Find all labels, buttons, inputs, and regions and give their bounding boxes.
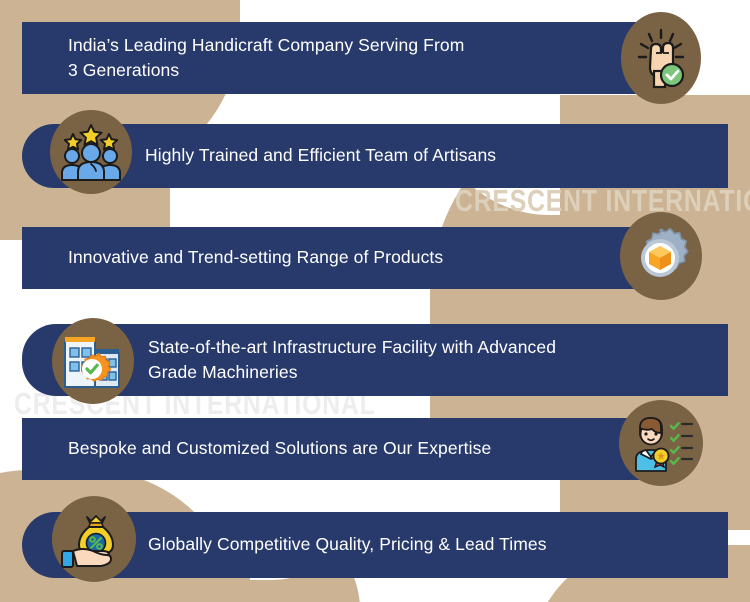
feature-bar-5[interactable]: Bespoke and Customized Solutions are Our… — [22, 418, 670, 480]
feature-bar-1[interactable]: India’s Leading Handicraft Company Servi… — [22, 22, 670, 94]
watermark-right: CRESCENT INTERNATIONAL — [455, 183, 750, 219]
infographic-canvas: CRESCENT INTERNATIONAL CRESCENT INTERNAT… — [0, 0, 750, 602]
factory-gear-check-icon — [52, 318, 134, 404]
feature-text-4: State-of-the-art Infrastructure Facility… — [148, 335, 556, 386]
team-stars-icon — [50, 110, 132, 194]
gear-cube-icon — [620, 212, 702, 300]
feature-text-5: Bespoke and Customized Solutions are Our… — [68, 436, 491, 461]
hand-money-bag-icon — [52, 496, 136, 582]
raised-fist-check-icon — [621, 12, 701, 104]
person-medal-checklist-icon — [619, 400, 703, 486]
feature-bar-3[interactable]: Innovative and Trend-setting Range of Pr… — [22, 227, 670, 289]
feature-text-6: Globally Competitive Quality, Pricing & … — [148, 532, 547, 557]
feature-text-2: Highly Trained and Efficient Team of Art… — [145, 143, 496, 168]
feature-text-1: India’s Leading Handicraft Company Servi… — [68, 33, 464, 84]
feature-text-3: Innovative and Trend-setting Range of Pr… — [68, 245, 443, 270]
